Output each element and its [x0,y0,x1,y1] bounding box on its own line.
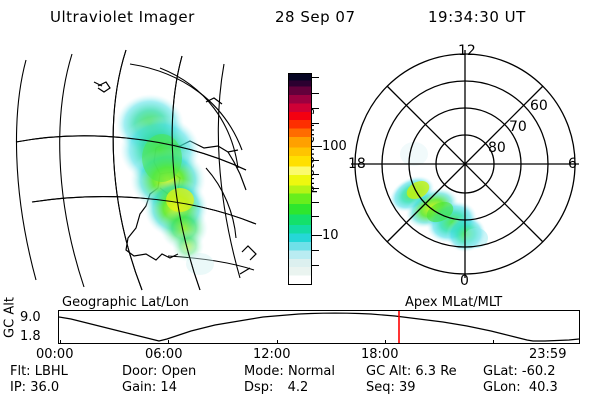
orbit-altitude-strip[interactable] [58,310,580,344]
status-seq-key: Seq: [366,380,395,395]
status-ip-value: 36.0 [30,380,59,395]
colorbar-tick-major-100 [312,146,322,147]
status-glat-key: GLat: [483,364,518,379]
mlt-label-0: 0 [460,274,469,288]
colorbar-tick-minor [312,160,319,161]
orbit-x-tick [493,340,494,344]
orbit-altitude-line [59,313,579,341]
status-gcalt: GC Alt: 6.3 Re [366,365,457,378]
orbit-x-tick [168,340,169,344]
orbit-x-label-0000: 00:00 [36,348,73,361]
orbit-y-axis-label: GC Alt [3,294,18,342]
colorbar-tick-minor [312,265,319,266]
colorbar-tick-minor [312,174,319,175]
status-glon-value: 40.3 [529,380,558,395]
status-ip: IP: 36.0 [10,381,59,394]
mlt-label-18: 18 [348,157,366,171]
status-glon: GLon: 40.3 [483,381,558,394]
status-gcalt-value: 6.3 Re [415,364,456,379]
status-seq-value: 39 [399,380,416,395]
status-door-key: Door: [122,364,157,379]
status-seq: Seq: 39 [366,381,416,394]
status-mode: Mode: Normal [244,365,335,378]
mlat-label-70: 70 [509,120,527,134]
mlat-label-60: 60 [530,99,548,113]
status-gain: Gain: 14 [122,381,177,394]
status-flt-key: Flt: [10,364,31,379]
orbit-x-tick [385,340,386,344]
geographic-panel-caption: Geographic Lat/Lon [62,295,189,310]
status-dsp-key: Dsp: [244,380,273,395]
colorbar-tick-minor [312,250,319,251]
geographic-globe-plot [10,42,275,292]
colorbar-group: photon cm-2s-1 100 10 [276,60,346,300]
apex-polar-panel: 12 6 0 18 60 70 80 [340,42,590,292]
orbit-y-tick-high: 9.0 [20,311,41,324]
orbit-x-tick [60,340,61,344]
colorbar-tick-minor [312,188,319,189]
status-footer: Flt: LBHL Door: Open Mode: Normal GC Alt… [0,365,600,399]
status-mode-key: Mode: [244,364,284,379]
aurora-emission-region [116,94,214,275]
colorbar-tick-minor [312,77,319,78]
orbit-altitude-curve [59,311,579,343]
status-glat: GLat: -60.2 [483,365,556,378]
observation-time: 19:34:30 UT [428,8,526,26]
status-gcalt-key: GC Alt: [366,364,411,379]
status-door: Door: Open [122,365,196,378]
orbit-x-label-1200: 12:00 [253,348,290,361]
mlt-label-12: 12 [458,44,476,58]
status-ip-key: IP: [10,380,26,395]
mlt-label-6: 6 [568,157,577,171]
colorbar-tick-minor [312,123,319,124]
orbit-x-tick [277,340,278,344]
apex-panel-caption: Apex MLat/MLT [405,295,502,310]
status-glon-key: GLon: [483,380,521,395]
orbit-x-label-0600: 06:00 [145,348,182,361]
status-flt-value: LBHL [35,364,68,379]
colorbar-tick-major-10 [312,235,322,236]
status-door-value: Open [162,364,197,379]
colorbar-tick-minor [312,202,319,203]
apex-polar-plot [340,42,590,292]
mlt-spokes [351,50,579,278]
status-mode-value: Normal [288,364,335,379]
header-bar: Ultraviolet Imager 28 Sep 07 19:34:30 UT [0,8,600,32]
orbit-x-label-2359: 23:59 [529,348,566,361]
colorbar-tick-minor [312,216,319,217]
status-glat-value: -60.2 [522,364,556,379]
orbit-x-label-1800: 18:00 [361,348,398,361]
colorbar-tick-label-10: 10 [322,229,339,242]
colorbar-gradient [288,73,312,285]
geographic-globe-panel [10,42,275,292]
status-gain-value: 14 [160,380,177,395]
status-gain-key: Gain: [122,380,156,395]
status-dsp: Dsp: 4.2 [244,381,308,394]
colorbar-tick-minor [312,108,319,109]
observation-date: 28 Sep 07 [275,8,355,26]
status-dsp-value: 4.2 [288,380,309,395]
status-flt: Flt: LBHL [10,365,68,378]
colorbar-tick-minor [312,93,319,94]
page-title: Ultraviolet Imager [50,8,195,26]
orbit-y-tick-low: 1.8 [20,330,41,343]
mlat-label-80: 80 [488,141,506,155]
